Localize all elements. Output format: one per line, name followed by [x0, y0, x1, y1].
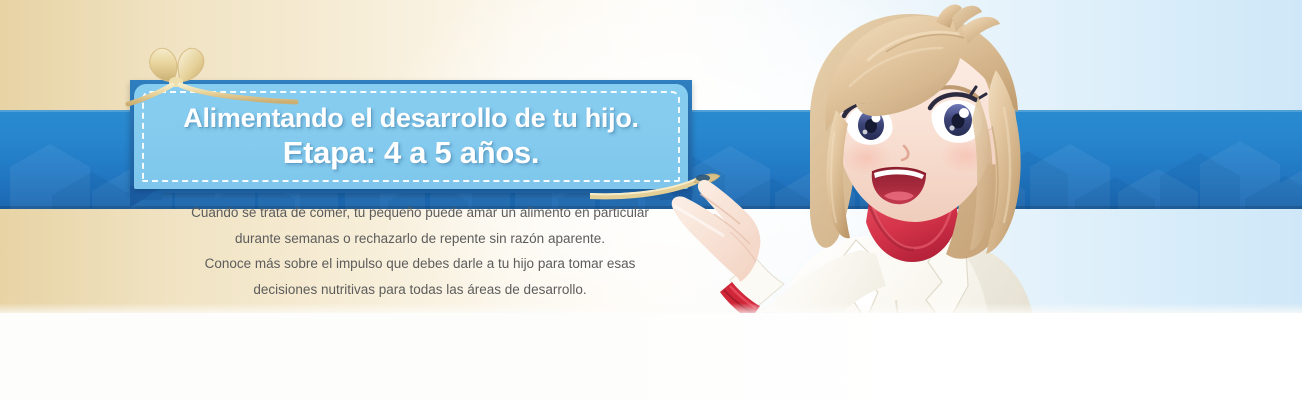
background-bottom-white	[0, 313, 1302, 400]
body-copy-line2: durante semanas o rechazarlo de repente …	[150, 226, 690, 252]
gift-bow-icon	[120, 28, 300, 108]
body-copy: Cuando se trata de comer, tu pequeño pue…	[150, 200, 690, 302]
body-copy-line1: Cuando se trata de comer, tu pequeño pue…	[150, 200, 690, 226]
banner-headline-line2: Etapa: 4 a 5 años.	[283, 135, 539, 171]
body-copy-line3: Conoce más sobre el impulso que debes da…	[150, 251, 690, 277]
body-copy-line4: decisiones nutritivas para todas las áre…	[150, 277, 690, 303]
pointing-hand	[672, 180, 761, 282]
banner-hero: Alimentando el desarrollo de tu hijo. Et…	[0, 0, 1302, 400]
